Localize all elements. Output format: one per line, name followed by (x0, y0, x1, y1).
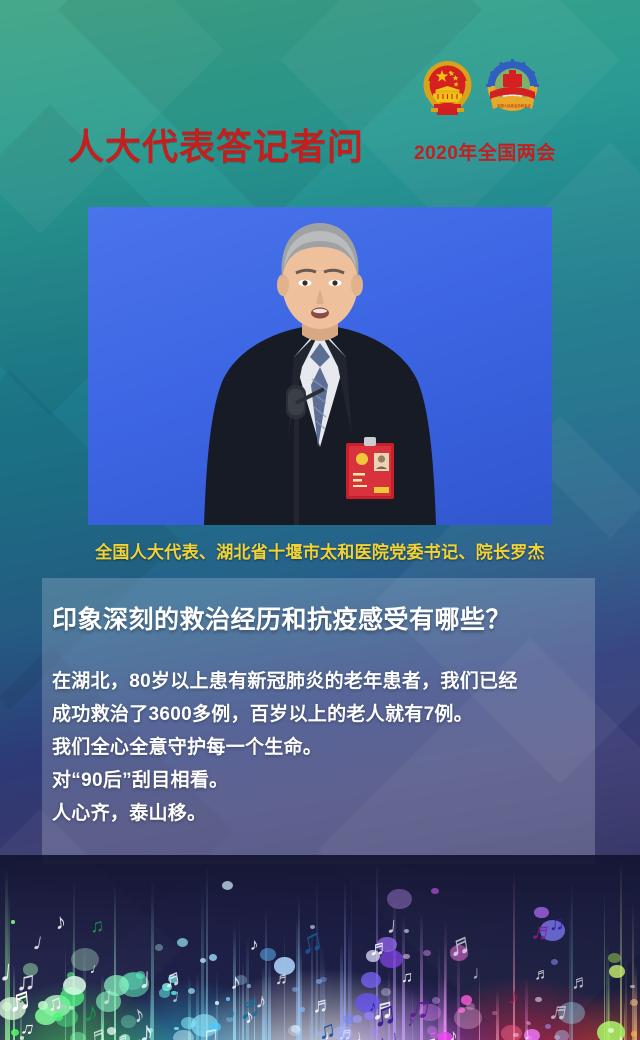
light-beam (440, 966, 443, 1040)
light-beam (114, 886, 116, 1040)
bokeh-circle (155, 944, 164, 951)
music-note-icon: ♪ (249, 936, 258, 953)
music-note-icon: ♪ (449, 1027, 458, 1040)
bokeh-circle (551, 959, 558, 965)
poster-header: 人大代表答记者问 (0, 0, 640, 200)
answer-line: 成功救治了3600多例，百岁以上的老人就有7例。 (52, 698, 597, 731)
music-note-icon: ♬ (5, 981, 41, 1017)
music-note-icon: ♪ (614, 1030, 625, 1040)
music-note-icon: ♩ (323, 1027, 338, 1040)
bokeh-circle (513, 1033, 519, 1038)
bokeh-circle (181, 1017, 196, 1029)
bokeh-circle (200, 958, 206, 963)
bokeh-circle (173, 1030, 193, 1040)
bokeh-circle (466, 1003, 475, 1010)
music-note-icon: ♬ (113, 1031, 133, 1040)
music-note-icon: ♫ (549, 913, 566, 935)
music-note-icon: ♫ (90, 917, 105, 937)
music-note-icon: ♬ (445, 927, 479, 961)
light-beam (632, 901, 634, 1040)
cppcc-emblem-icon: 中国人民政治协商会议 (485, 59, 540, 119)
music-note-icon: ♬ (312, 994, 335, 1017)
music-note-icon: ♩ (537, 1033, 559, 1040)
speaker-figure-illustration (88, 207, 552, 525)
bokeh-circle (501, 1025, 522, 1040)
bokeh-circle (300, 1007, 306, 1012)
music-note-icon: ♩ (89, 960, 106, 977)
photo-caption: 全国人大代表、湖北省十堰市太和医院党委书记、院长罗杰 (0, 538, 640, 563)
music-note-icon: ♬ (570, 973, 590, 993)
music-note-icon: ♬ (419, 1033, 443, 1040)
bokeh-circle (226, 997, 231, 1001)
music-note-icon: ♪ (226, 1003, 236, 1021)
music-note-icon: ♫ (401, 970, 414, 987)
music-notes-banner: ♬♩♩♩♬♩♪♩♬♬♪♫♪♩♪♫♬♪♩♬♩♫♪♬♪♫♩♫♪♫♩♪♪♪♫♩♩♬♬♬… (0, 855, 640, 1040)
light-beam (604, 892, 606, 1040)
music-note-icon: ♬ (161, 965, 188, 992)
bokeh-circle (209, 954, 217, 961)
speaker-photo (88, 207, 552, 525)
page-title: 人大代表答记者问 (68, 118, 364, 170)
music-note-icon: ♬ (337, 1024, 358, 1040)
music-note-icon: ♬ (274, 970, 291, 987)
light-beam (496, 990, 499, 1040)
bokeh-circle (431, 888, 439, 894)
bokeh-circle (222, 881, 233, 890)
answer-line: 在湖北，80岁以上患有新冠肺炎的老年患者，我们已经 (52, 665, 597, 698)
music-note-icon: ♪ (406, 1013, 415, 1029)
music-note-icon: ♩ (31, 930, 59, 958)
music-note-icon: ♬ (369, 937, 391, 959)
bokeh-circle (631, 1031, 638, 1037)
music-note-icon: ♫ (370, 995, 398, 1031)
bokeh-circle (247, 984, 251, 988)
music-note-icon: ♪ (230, 971, 242, 993)
light-beam (620, 861, 622, 1040)
light-beam (625, 955, 627, 1040)
music-note-icon: ♫ (45, 992, 64, 1015)
music-note-icon: ♪ (376, 1033, 388, 1040)
event-subtitle: 2020年全国两会 (414, 138, 556, 165)
bokeh-circle (361, 972, 381, 988)
bokeh-circle (423, 950, 431, 957)
music-note-icon: ♫ (197, 1021, 220, 1040)
music-note-icon: ♩ (102, 982, 130, 1010)
answer-line: 人心齐，泰山移。 (52, 797, 597, 830)
national-emblem-of-china-icon (420, 59, 475, 119)
music-note-icon: ♬ (533, 967, 550, 984)
answer-line: 我们全心全意守护每一个生命。 (52, 731, 597, 764)
emblem-group: 中国人民政治协商会议 (420, 57, 540, 119)
poster-canvas: 人大代表答记者问 (0, 0, 640, 1040)
bokeh-circle (545, 1024, 551, 1029)
answer-body: 在湖北，80岁以上患有新冠肺炎的老年患者，我们已经 成功救治了3600多例，百岁… (52, 665, 597, 830)
answer-line: 对“90后”刮目相看。 (52, 764, 597, 797)
bokeh-circle (535, 997, 542, 1003)
music-note-icon: ♬ (546, 995, 576, 1025)
svg-text:中国人民政治协商会议: 中国人民政治协商会议 (497, 103, 532, 108)
music-note-icon: ♩ (472, 964, 491, 983)
bokeh-circle (387, 889, 412, 909)
question-heading: 印象深刻的救治经历和抗疫感受有哪些？ (52, 600, 597, 636)
bokeh-circle (454, 1007, 482, 1030)
bokeh-circle (609, 965, 625, 978)
bokeh-circle (492, 1011, 496, 1015)
light-beam (513, 871, 515, 1040)
music-note-icon: ♪ (507, 984, 520, 1008)
bokeh-circle (608, 953, 621, 964)
